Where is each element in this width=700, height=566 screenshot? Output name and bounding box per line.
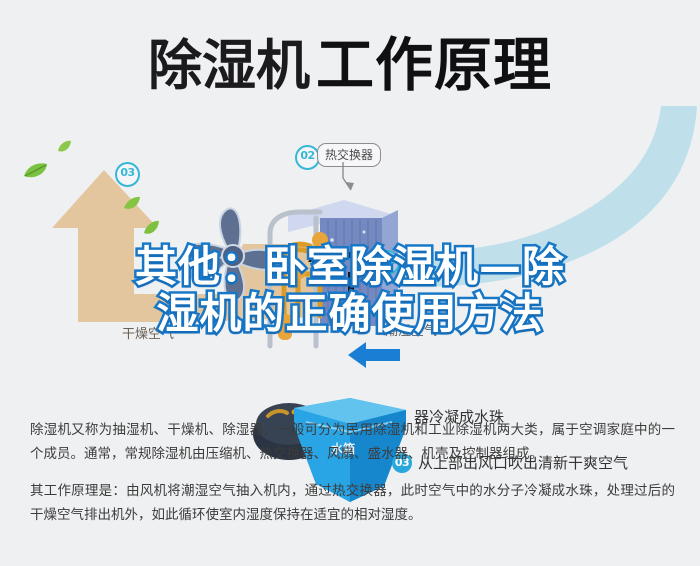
air-inlet-arrow-icon bbox=[348, 342, 400, 368]
leaf-icon bbox=[57, 140, 72, 154]
body-paragraph-1: 除湿机又称为抽湿机、干燥机、除湿器，一般可分为民用除湿机和工业除湿机两大类，属于… bbox=[30, 418, 675, 466]
dry-air-label: 干燥空气 bbox=[122, 323, 174, 342]
dehumidifier-diagram: 干燥空气 潮湿空气 水箱 03 02 01 热交换器 02 器冷凝成水珠 03 … bbox=[0, 110, 700, 400]
badge-03-dry-air: 03 bbox=[115, 162, 140, 187]
badge-01-humid-air: 01 bbox=[375, 250, 400, 275]
page-title: 除湿机 工作原理 bbox=[0, 28, 700, 104]
page-title-part1: 除湿机 bbox=[148, 39, 310, 93]
leaf-icon bbox=[143, 220, 160, 236]
leaf-icon bbox=[123, 196, 141, 211]
page-root: 除湿机 工作原理 bbox=[0, 0, 700, 566]
page-title-part2: 工作原理 bbox=[316, 37, 552, 95]
humid-air-curve-icon bbox=[375, 104, 700, 294]
leaf-icon bbox=[22, 162, 48, 180]
heat-exchanger-icon bbox=[258, 188, 418, 403]
article-body: 除湿机又称为抽湿机、干燥机、除湿器，一般可分为民用除湿机和工业除湿机两大类，属于… bbox=[30, 418, 675, 539]
body-paragraph-2: 其工作原理是：由风机将潮湿空气抽入机内，通过热交换器，此时空气中的水分子冷凝成水… bbox=[30, 479, 675, 527]
humid-air-label: 潮湿空气 bbox=[385, 320, 437, 339]
callout-stem-icon bbox=[337, 162, 361, 192]
